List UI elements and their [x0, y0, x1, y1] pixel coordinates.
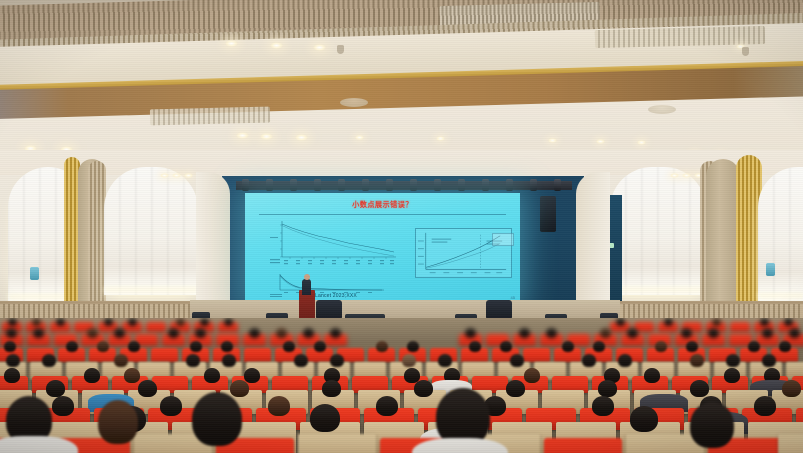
- attendee-head: [330, 328, 341, 338]
- slide-title: 小数点展示错误？: [245, 200, 520, 210]
- attendee-head: [664, 318, 673, 326]
- attendee-head: [314, 341, 326, 352]
- attendee-head: [186, 354, 200, 367]
- attendee-head: [46, 380, 65, 397]
- seat: [730, 322, 750, 332]
- attendee-head: [224, 318, 233, 326]
- attendee-head: [222, 354, 236, 367]
- attendee-head: [310, 404, 340, 432]
- attendee-head: [6, 328, 17, 338]
- presenter-body: [302, 279, 311, 295]
- attendee-head: [230, 380, 249, 397]
- slide-citation: Lancet 2023;XXX: [315, 293, 357, 299]
- attendee-head: [600, 328, 611, 338]
- attendee-head: [760, 318, 769, 326]
- panel-ribs: [610, 167, 706, 295]
- attendee-head: [32, 318, 41, 326]
- attendee-head: [690, 380, 709, 397]
- attendee-head: [283, 341, 295, 352]
- attendee-head: [97, 341, 109, 352]
- attendee-head: [114, 354, 128, 367]
- attendee-head: [469, 341, 481, 352]
- attendee-head: [593, 341, 605, 352]
- panel-uplight-glow: [610, 287, 706, 299]
- attendee-head: [616, 318, 625, 326]
- attendee-head: [168, 328, 179, 338]
- attendee-head: [330, 354, 344, 367]
- attendee-head: [200, 318, 209, 326]
- attendee-head: [294, 354, 308, 367]
- acoustic-panel-right-far: [758, 167, 803, 301]
- attendee-head: [592, 396, 614, 416]
- attendee-head: [762, 328, 773, 338]
- downlight: [225, 40, 238, 47]
- downlight: [670, 173, 679, 178]
- attendee-head: [221, 341, 233, 352]
- lighting-truss: [236, 181, 572, 190]
- attendee-head: [754, 396, 776, 416]
- downlight: [436, 136, 445, 141]
- attendee-head: [114, 328, 125, 338]
- downlight: [236, 132, 249, 139]
- attendee-head: [762, 354, 776, 367]
- truss-lamp: [242, 179, 249, 191]
- attendee-head: [128, 341, 140, 352]
- attendee-head: [87, 328, 98, 338]
- projection-screen: 小数点展示错误？: [245, 193, 520, 303]
- attendee-head: [33, 328, 44, 338]
- truss-lamp: [530, 179, 537, 191]
- attendee-head: [681, 328, 692, 338]
- attendee-head: [500, 341, 512, 352]
- attendee-head-foreground: [98, 400, 138, 444]
- downlight: [184, 173, 193, 178]
- panel-uplight-glow: [104, 287, 198, 299]
- attendee-head: [712, 318, 721, 326]
- attendee-head: [438, 354, 452, 367]
- truss-lamp: [362, 179, 369, 191]
- armchair-left: [316, 300, 342, 320]
- attendee-head: [630, 406, 658, 432]
- attendee-head-foreground: [690, 402, 734, 448]
- downlight: [637, 140, 646, 145]
- attendee-head: [407, 341, 419, 352]
- attendee-head: [724, 368, 740, 383]
- attendee-head: [4, 341, 16, 352]
- attendee-head: [618, 354, 632, 367]
- attendee-head: [546, 328, 557, 338]
- attendee-head: [303, 328, 314, 338]
- downlight: [313, 44, 326, 51]
- attendee-head: [519, 328, 530, 338]
- ceiling-air-vent-left: [150, 107, 270, 126]
- downlight: [355, 135, 364, 140]
- attendee-head: [784, 318, 793, 326]
- ceiling-dome-fixture: [648, 105, 676, 114]
- seat: [523, 348, 550, 362]
- attendee-head: [414, 380, 433, 397]
- attendee-head: [690, 354, 704, 367]
- survival-curve-chart: [270, 219, 400, 265]
- attendee-head: [748, 341, 760, 352]
- attendee-head: [8, 318, 17, 326]
- attendee-head: [56, 318, 65, 326]
- attendee-head: [84, 368, 100, 383]
- panel-ribs: [104, 167, 198, 295]
- acoustic-panel-left-main: [104, 167, 198, 295]
- downlight: [548, 138, 557, 143]
- attendee-head: [510, 354, 524, 367]
- attendee-head: [582, 354, 596, 367]
- attendee-head: [322, 380, 341, 397]
- truss-lamp: [386, 179, 393, 191]
- attendee-head: [42, 354, 56, 367]
- attendee-head: [655, 341, 667, 352]
- truss-lamp: [290, 179, 297, 191]
- attendee-head: [789, 328, 800, 338]
- attendee-head: [276, 328, 287, 338]
- attendee-head: [779, 341, 791, 352]
- attendee-head: [52, 396, 74, 416]
- attendee-head: [562, 341, 574, 352]
- seat: [151, 348, 178, 362]
- truss-lamp: [482, 179, 489, 191]
- attendee-head: [644, 368, 660, 383]
- attendee-head: [66, 341, 78, 352]
- downlight: [270, 42, 283, 49]
- seat-back: [298, 434, 376, 453]
- attendee-head: [598, 380, 617, 397]
- downlight: [260, 133, 273, 140]
- attendee-shoulders-foreground: [412, 438, 508, 453]
- attendee-head: [708, 328, 719, 338]
- attendee-head: [128, 318, 137, 326]
- downlight: [596, 139, 605, 144]
- attendee-head: [104, 318, 113, 326]
- attendee-head-foreground: [192, 392, 242, 446]
- attendee-head: [244, 368, 260, 383]
- armchair-right: [486, 300, 512, 320]
- attendee-head: [124, 368, 140, 383]
- attendee-head: [627, 328, 638, 338]
- wall-speaker-left: [30, 267, 39, 280]
- attendee-head: [160, 396, 182, 416]
- seat-back: [778, 434, 803, 453]
- attendee-head: [726, 354, 740, 367]
- downlight: [682, 173, 691, 178]
- seat: [146, 322, 166, 332]
- downlight: [172, 173, 181, 178]
- attendee-head: [190, 341, 202, 352]
- truss-lamp: [266, 179, 273, 191]
- attendee-head: [506, 380, 525, 397]
- attendee-head: [782, 380, 801, 397]
- attendee-head: [465, 328, 476, 338]
- truss-lamp: [458, 179, 465, 191]
- wall-speaker-right: [766, 263, 775, 276]
- attendee-head: [204, 368, 220, 383]
- attendee-head: [195, 328, 206, 338]
- attendee-head: [524, 368, 540, 383]
- truss-lamp: [434, 179, 441, 191]
- seat: [544, 438, 622, 453]
- attendee-head: [376, 341, 388, 352]
- panel-ribs: [758, 167, 803, 301]
- acoustic-panel-right-main: [610, 167, 706, 295]
- downlight: [160, 173, 169, 178]
- truss-lamp: [338, 179, 345, 191]
- attendee-head: [376, 396, 398, 416]
- ceiling-dome-fixture: [340, 98, 368, 107]
- wood-column-right: [706, 159, 740, 305]
- chart-legend: [492, 233, 514, 246]
- ceiling-speaker-icon: [742, 47, 749, 56]
- attendee-head: [402, 354, 416, 367]
- attendee-head: [6, 354, 20, 367]
- seat: [244, 348, 271, 362]
- downlight: [295, 134, 308, 141]
- truss-lamp: [314, 179, 321, 191]
- attendee-head: [138, 380, 157, 397]
- attendee-head: [4, 368, 20, 383]
- slide-title-underline: [259, 214, 506, 215]
- auditorium-screenshot: 小数点展示错误？: [0, 0, 803, 453]
- truss-lamp: [410, 179, 417, 191]
- truss-lamp: [506, 179, 513, 191]
- attendee-head: [268, 396, 290, 416]
- attendee-head: [249, 328, 260, 338]
- audience-seating: [0, 318, 803, 453]
- line-array-right: [540, 196, 556, 232]
- attendee-head: [176, 318, 185, 326]
- presenter-head: [304, 274, 310, 280]
- ceiling-speaker-icon: [337, 45, 344, 54]
- attendee-head: [686, 341, 698, 352]
- truss-lamp: [554, 179, 561, 191]
